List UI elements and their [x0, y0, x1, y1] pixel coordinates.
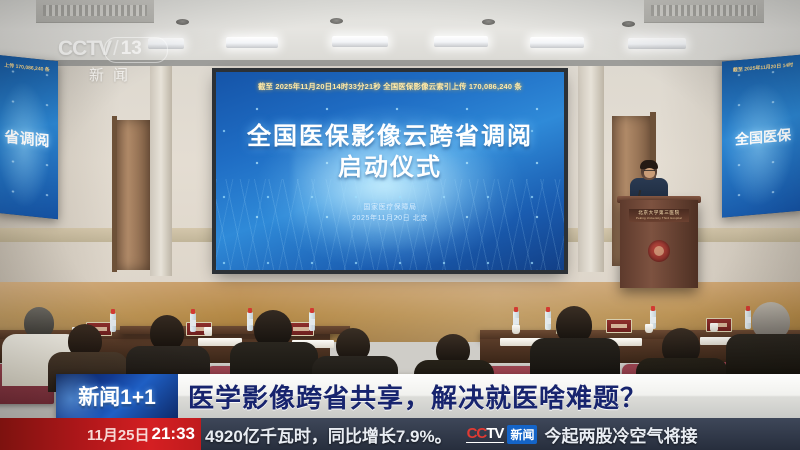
cup-3 [204, 327, 212, 336]
cctv-word: CCTV [466, 425, 505, 443]
headline-text: 医学影像跨省共享，解决就医啥难题？ [178, 378, 647, 415]
main-led-screen: 截至 2025年11月20日14时33分21秒 全国医保影像云索引上传 170,… [216, 72, 564, 270]
cup-4 [512, 325, 520, 334]
water-bottle-6 [545, 311, 551, 330]
side-display-left: 上传 170,086,240 条 省调阅 [0, 55, 58, 220]
headline-plate: 医学影像跨省共享，解决就医啥难题？ [178, 374, 800, 418]
water-bottle-2 [190, 313, 196, 332]
screen-date-place: 2025年11月20日 北京 [216, 214, 564, 225]
cctv-news-inline-logo: CCTV 新闻 [466, 425, 538, 444]
cup-6 [710, 323, 718, 332]
ac-vent-left [36, 0, 154, 23]
cctv13-channel-bug: CCTV / 13 新闻 [58, 36, 168, 88]
screen-org: 国家医疗保障局 [216, 203, 564, 214]
screen-title-line1: 全国医保影像云跨省调阅 [216, 122, 564, 153]
cctv-letter-c1: C [467, 425, 477, 442]
podium-name-en: Peking University Third Hospital [636, 217, 682, 220]
bug-channel-name: 新闻 [58, 64, 168, 85]
downlight-4 [622, 21, 635, 27]
screen-title: 全国医保影像云跨省调阅 启动仪式 [216, 122, 564, 183]
cctv-news-badge: 新闻 [507, 425, 537, 444]
ticker-scroll-area: 4920亿千瓦时，同比增长7.9%。 CCTV 新闻 今起两股冷空气将接 [201, 418, 800, 450]
broadcast-screenshot: 上传 170,086,240 条 省调阅 截至 2025年11月20日 14时 … [0, 0, 800, 450]
screen-counter-ticker: 截至 2025年11月20日14时33分21秒 全国医保影像云索引上传 170,… [216, 81, 564, 92]
podium-nameplate: 北京大学第三医院 Peking University Third Hospita… [629, 209, 689, 222]
ticker-clock-block: 11月25日 21:33 [0, 418, 201, 450]
door-left [116, 120, 150, 270]
ceiling-light-3 [332, 36, 388, 47]
side-display-right: 截至 2025年11月20日 14时 全国医保 [722, 54, 800, 217]
ceiling-light-6 [628, 38, 686, 49]
ticker-clock: 21:33 [152, 424, 195, 444]
water-bottle-1 [110, 313, 116, 332]
lower-third-banner: 新闻1+1 新闻1+1 医学影像跨省共享，解决就医啥难题？ [56, 374, 800, 418]
cup-5 [645, 324, 653, 333]
ac-vent-right [644, 0, 764, 23]
ceiling-light-4 [434, 36, 488, 47]
ceiling-light-5 [530, 37, 584, 48]
cctv-letters-tv: TV [486, 425, 503, 442]
hospital-emblem [648, 240, 670, 262]
wall-pillar-right [578, 66, 604, 272]
speaker-glasses [644, 170, 655, 174]
news-ticker-bar: 11月25日 21:33 4920亿千瓦时，同比增长7.9%。 CCTV 新闻 … [0, 418, 800, 450]
ticker-right-text: 今起两股冷空气将接 [544, 422, 697, 447]
name-card-5 [606, 319, 632, 333]
screen-subtitle: 国家医疗保障局 2025年11月20日 北京 [216, 203, 564, 225]
ceiling-light-2 [226, 37, 278, 48]
downlight-1 [176, 19, 189, 25]
water-bottle-8 [745, 310, 751, 329]
downlight-3 [482, 19, 495, 25]
water-bottle-3 [247, 312, 253, 331]
water-bottle-4 [309, 312, 315, 331]
bug-pill-outline [104, 37, 168, 63]
downlight-2 [330, 18, 343, 24]
cctv-letter-c2: C [476, 425, 486, 442]
program-logo: 新闻1+1 新闻1+1 [56, 374, 178, 418]
ticker-date: 11月25日 [87, 424, 150, 445]
ticker-scroll-text: 4920亿千瓦时，同比增长7.9%。 [201, 422, 452, 447]
program-logo-text: 新闻1+1 [78, 381, 156, 411]
screen-title-line2: 启动仪式 [216, 153, 564, 184]
wall-pillar-left [150, 66, 172, 276]
door-jamb-left [112, 116, 117, 272]
